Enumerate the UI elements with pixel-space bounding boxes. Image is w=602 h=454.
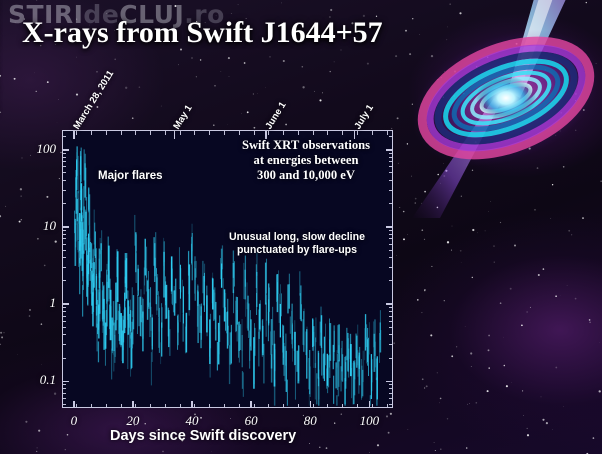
infographic-canvas: STIRIdeCLUJ.ro X-rays from Swift J1644+5… bbox=[0, 0, 602, 454]
x-tick-label: 20 bbox=[113, 413, 153, 429]
xrt-note-line-1: Swift XRT observations bbox=[242, 138, 370, 152]
y-tick-label: 1 bbox=[20, 295, 56, 311]
decline-note-line-1: Unusual long, slow decline bbox=[229, 231, 365, 243]
x-tick-label: 0 bbox=[54, 413, 94, 429]
xrt-note-line-2: at energies between bbox=[254, 153, 359, 167]
page-title: X-rays from Swift J1644+57 bbox=[22, 16, 383, 50]
annotation-major-flares: Major flares bbox=[98, 170, 163, 182]
x-tick-label: 100 bbox=[349, 413, 389, 429]
x-axis-title: Days since Swift discovery bbox=[110, 428, 296, 444]
x-tick-label: 60 bbox=[231, 413, 271, 429]
y-tick-label: 10 bbox=[20, 218, 56, 234]
y-tick-label: 100 bbox=[20, 141, 56, 157]
xrt-note-line-3: 300 and 10,000 eV bbox=[257, 168, 355, 182]
annotation-xrt-note: Swift XRT observations at energies betwe… bbox=[218, 138, 394, 183]
decline-note-line-2: punctuated by flare-ups bbox=[237, 244, 357, 256]
y-tick-label: 0.1 bbox=[20, 372, 56, 388]
x-tick-label: 40 bbox=[172, 413, 212, 429]
black-hole-artwork bbox=[400, 0, 602, 226]
top-date-label: July 1 bbox=[352, 103, 376, 132]
top-date-label: March 28, 2011 bbox=[71, 69, 116, 132]
x-tick-label: 80 bbox=[290, 413, 330, 429]
disk-core bbox=[476, 76, 536, 120]
top-date-label: May 1 bbox=[172, 103, 195, 131]
top-date-label: June 1 bbox=[263, 100, 288, 131]
annotation-decline-note: Unusual long, slow decline punctuated by… bbox=[212, 231, 382, 257]
